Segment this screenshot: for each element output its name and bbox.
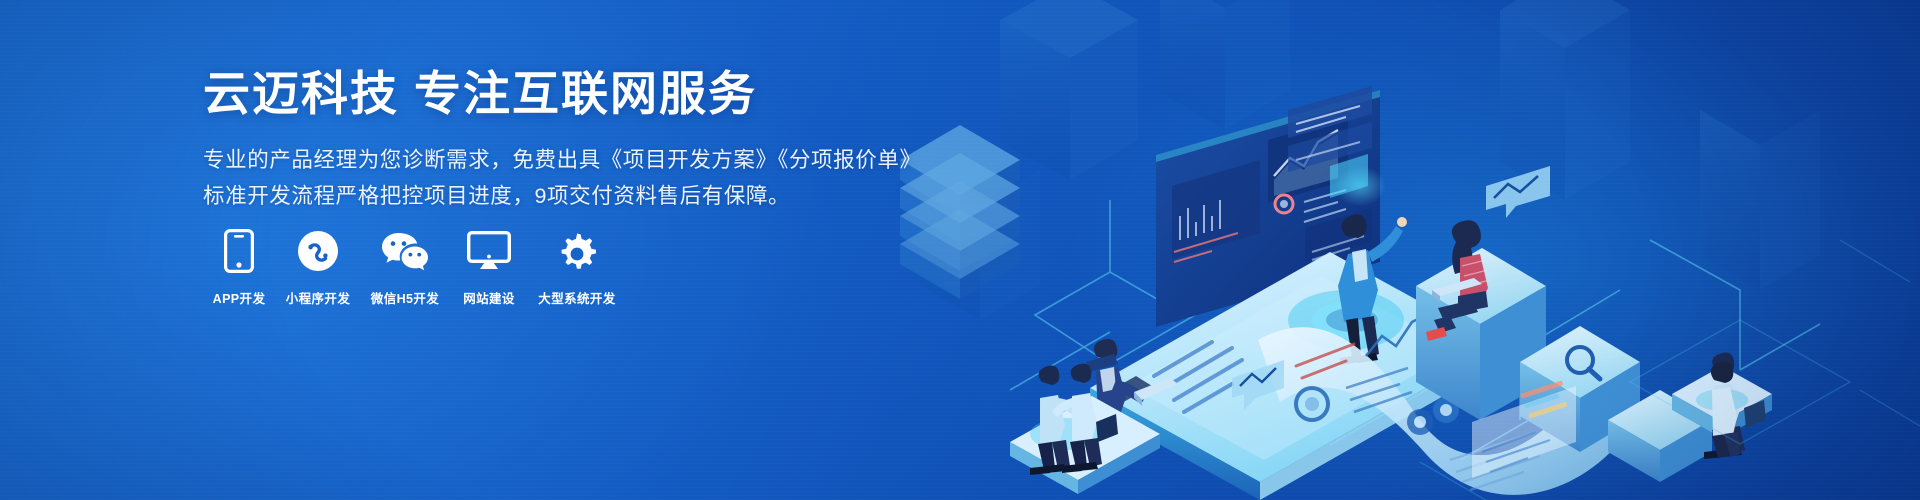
service-label: 大型系统开发 bbox=[538, 288, 615, 307]
mini-program-icon bbox=[297, 228, 339, 274]
mobile-phone-icon bbox=[224, 228, 254, 274]
service-label: APP开发 bbox=[213, 288, 266, 307]
desktop-monitor-icon bbox=[467, 228, 511, 274]
chat-bubble bbox=[1486, 166, 1550, 218]
service-item-miniprogram[interactable]: 小程序开发 bbox=[275, 228, 361, 307]
subtitle-line-2: 标准开发流程严格把控项目进度，9项交付资料售后有保障。 bbox=[203, 179, 923, 214]
wechat-icon bbox=[381, 228, 429, 274]
subtitle-line-1: 专业的产品经理为您诊断需求，免费出具《项目开发方案》《分项报价单》 bbox=[203, 143, 923, 178]
isometric-tech-illustration bbox=[860, 0, 1920, 500]
service-label: 网站建设 bbox=[463, 288, 515, 307]
service-item-wechat-h5[interactable]: 微信H5开发 bbox=[361, 228, 449, 307]
promo-banner: 云迈科技 专注互联网服务 专业的产品经理为您诊断需求，免费出具《项目开发方案》《… bbox=[0, 0, 1920, 500]
service-label: 微信H5开发 bbox=[371, 288, 439, 307]
service-label: 小程序开发 bbox=[286, 288, 351, 307]
gear-icon bbox=[556, 228, 598, 274]
service-item-large-system[interactable]: 大型系统开发 bbox=[529, 228, 625, 307]
service-item-website[interactable]: 网站建设 bbox=[449, 228, 529, 307]
page-title: 云迈科技 专注互联网服务 bbox=[203, 68, 923, 121]
service-icon-row: APP开发 小程序开发 bbox=[203, 228, 625, 307]
service-item-app[interactable]: APP开发 bbox=[203, 228, 275, 307]
banner-copy: 云迈科技 专注互联网服务 专业的产品经理为您诊断需求，免费出具《项目开发方案》《… bbox=[203, 68, 923, 214]
